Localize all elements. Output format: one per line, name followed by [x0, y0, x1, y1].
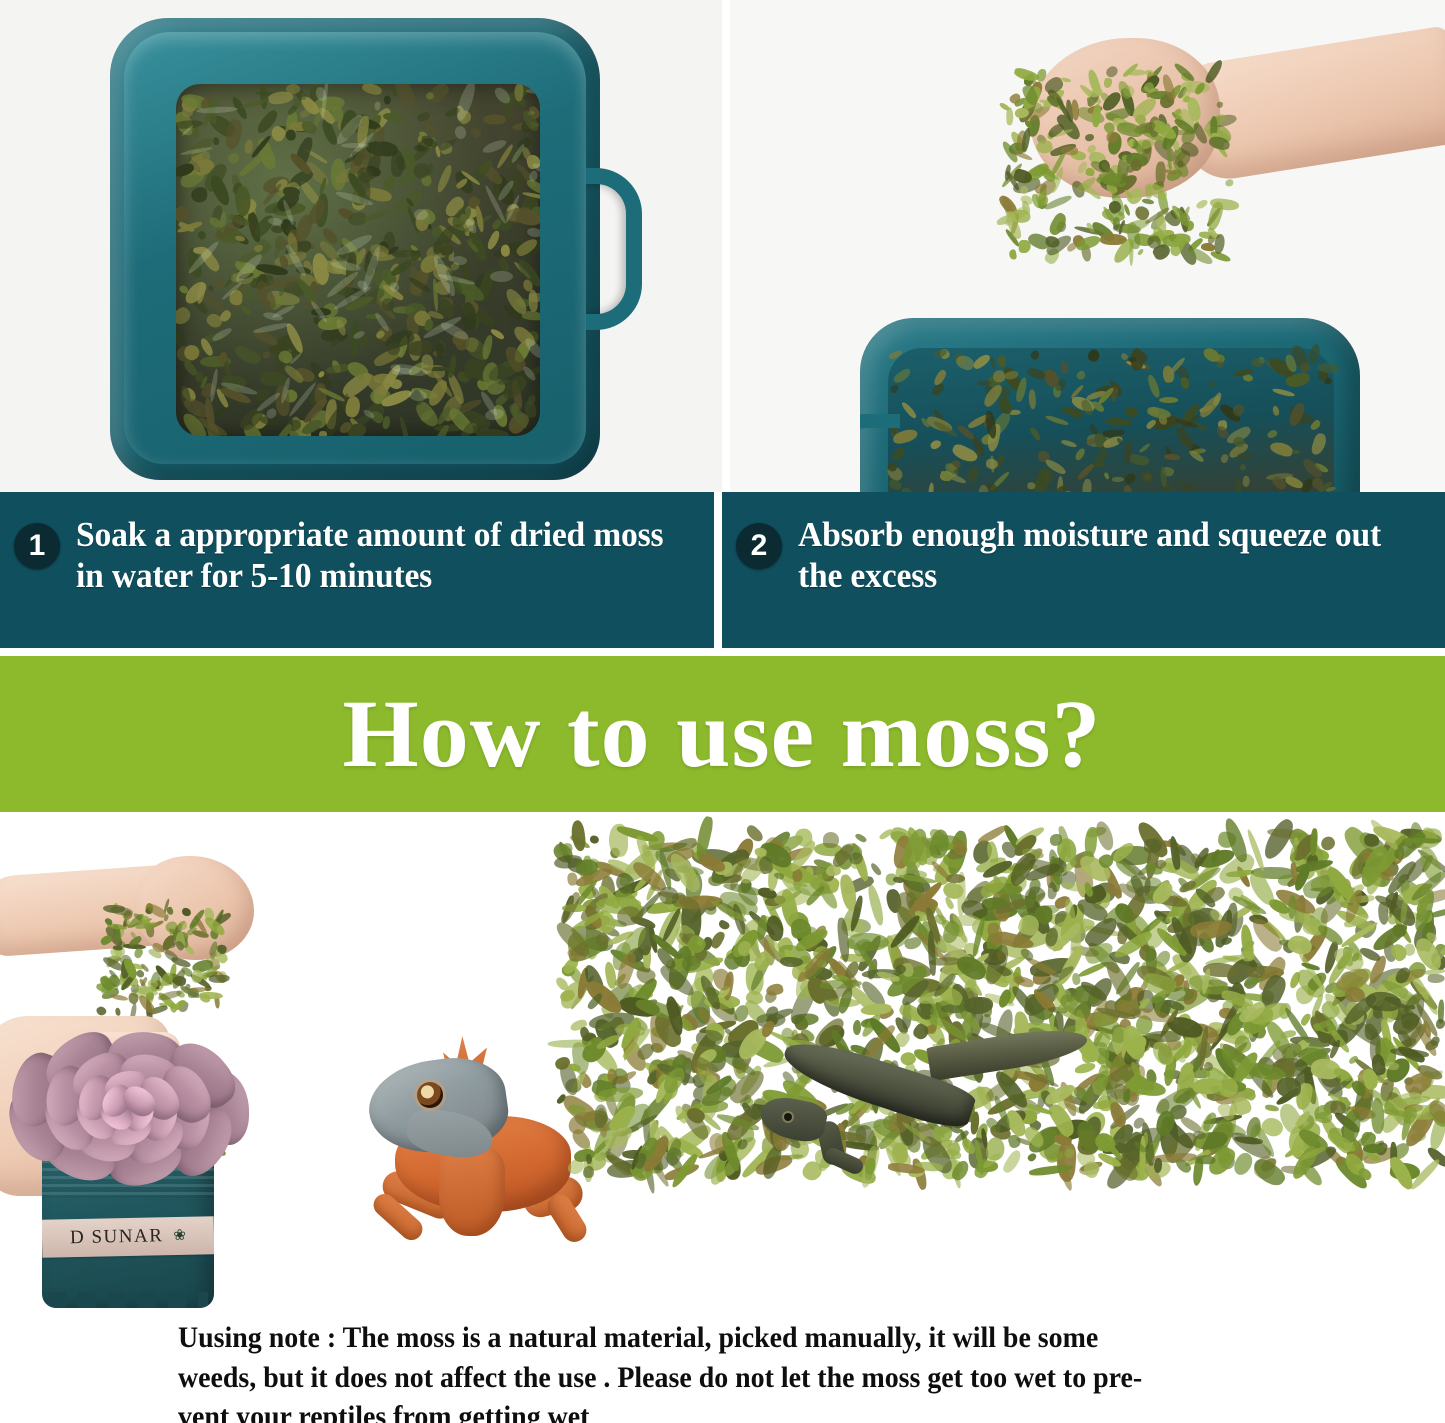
banner-title: How to use moss? — [343, 686, 1102, 782]
photo-squeezing-moss — [730, 0, 1445, 492]
moss-clump — [1000, 68, 1230, 258]
salamander-tail — [926, 1023, 1089, 1082]
hand-squeezing — [1030, 28, 1330, 208]
usage-note-line-2: weeds, but it does not affect the use . … — [178, 1358, 1229, 1398]
basin-water-with-moss — [176, 84, 540, 436]
step-text-1: Soak a appropriate amount of dried moss … — [76, 514, 675, 597]
step-text-2: Absorb enough moisture and squeeze out t… — [798, 514, 1406, 597]
succulent-plant — [20, 1044, 235, 1172]
iguana-dewlap — [439, 1148, 505, 1236]
pot-foot — [48, 1292, 208, 1308]
caption-row: 1 Soak a appropriate amount of dried mos… — [0, 492, 1445, 648]
green-banner: How to use moss? — [0, 656, 1445, 812]
infographic-page: 1 Soak a appropriate amount of dried mos… — [0, 0, 1445, 1423]
moss-pinch — [96, 904, 226, 1014]
basin-water-residue — [888, 348, 1334, 492]
usage-note-line-1: Uusing note : The moss is a natural mate… — [178, 1318, 1229, 1358]
salamander-eye — [784, 1113, 792, 1121]
photo-usage-scene: D SUNAR ❀ — [0, 830, 1445, 1320]
pot-label-text: D SUNAR — [70, 1225, 164, 1249]
usage-note: Uusing note : The moss is a natural mate… — [178, 1318, 1229, 1423]
pot-brand-label: D SUNAR ❀ — [42, 1216, 214, 1258]
step-badge-1: 1 — [14, 523, 60, 569]
caption-step-1: 1 Soak a appropriate amount of dried mos… — [0, 492, 714, 648]
salamander-head — [757, 1093, 830, 1146]
iguana-leg — [543, 1190, 591, 1247]
teal-basin-below — [860, 318, 1360, 492]
teal-basin — [110, 18, 600, 480]
usage-note-line-3: vent your reptiles from getting wet — [178, 1397, 1229, 1423]
hand-holding-pot: D SUNAR ❀ — [0, 1008, 230, 1218]
caption-step-2: 2 Absorb enough moisture and squeeze out… — [722, 492, 1445, 648]
flower-icon: ❀ — [173, 1228, 186, 1243]
iguana-eye — [417, 1082, 443, 1108]
photo-soaking-moss — [0, 0, 722, 492]
basin-handle-left — [860, 414, 900, 492]
salamander-figure — [760, 1025, 1090, 1155]
basin-rim — [124, 32, 586, 464]
hand-dropping-moss — [0, 848, 266, 978]
step-badge-2: 2 — [736, 523, 782, 569]
